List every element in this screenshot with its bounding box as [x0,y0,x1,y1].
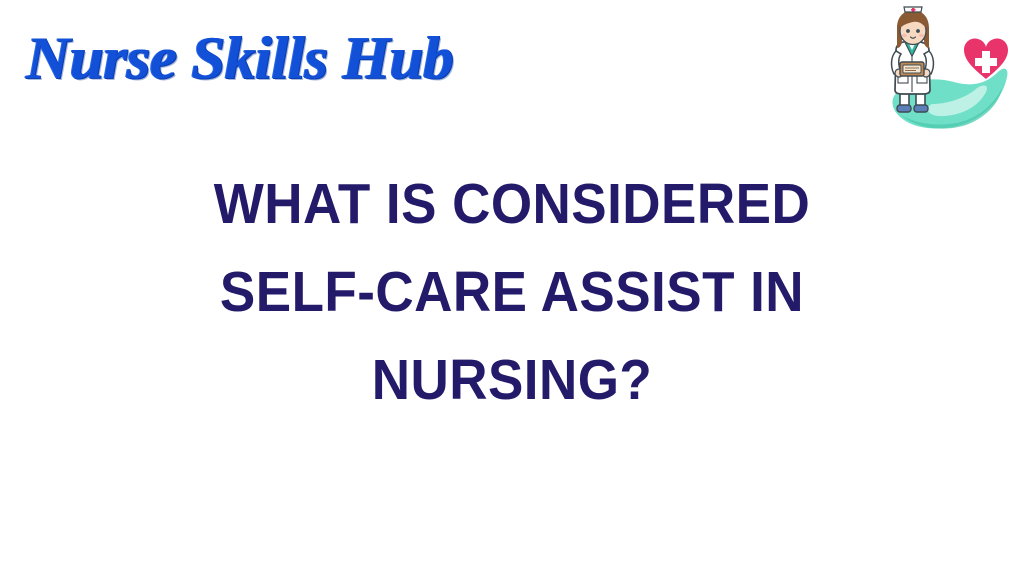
brand-logo[interactable]: Nurse Skills Hub [26,20,526,96]
headline-line-1: WHAT IS CONSIDERED [36,160,988,248]
brand-logo-text: Nurse Skills Hub [26,28,453,88]
headline-line-3: NURSING? [36,336,988,424]
page-title: WHAT IS CONSIDERED SELF-CARE ASSIST IN N… [0,160,1024,424]
headline-line-2: SELF-CARE ASSIST IN [36,248,988,336]
slide-canvas: Nurse Skills Hub WHAT IS CONSIDERED SELF… [0,0,1024,576]
nurse-care-illustration [872,4,1012,136]
